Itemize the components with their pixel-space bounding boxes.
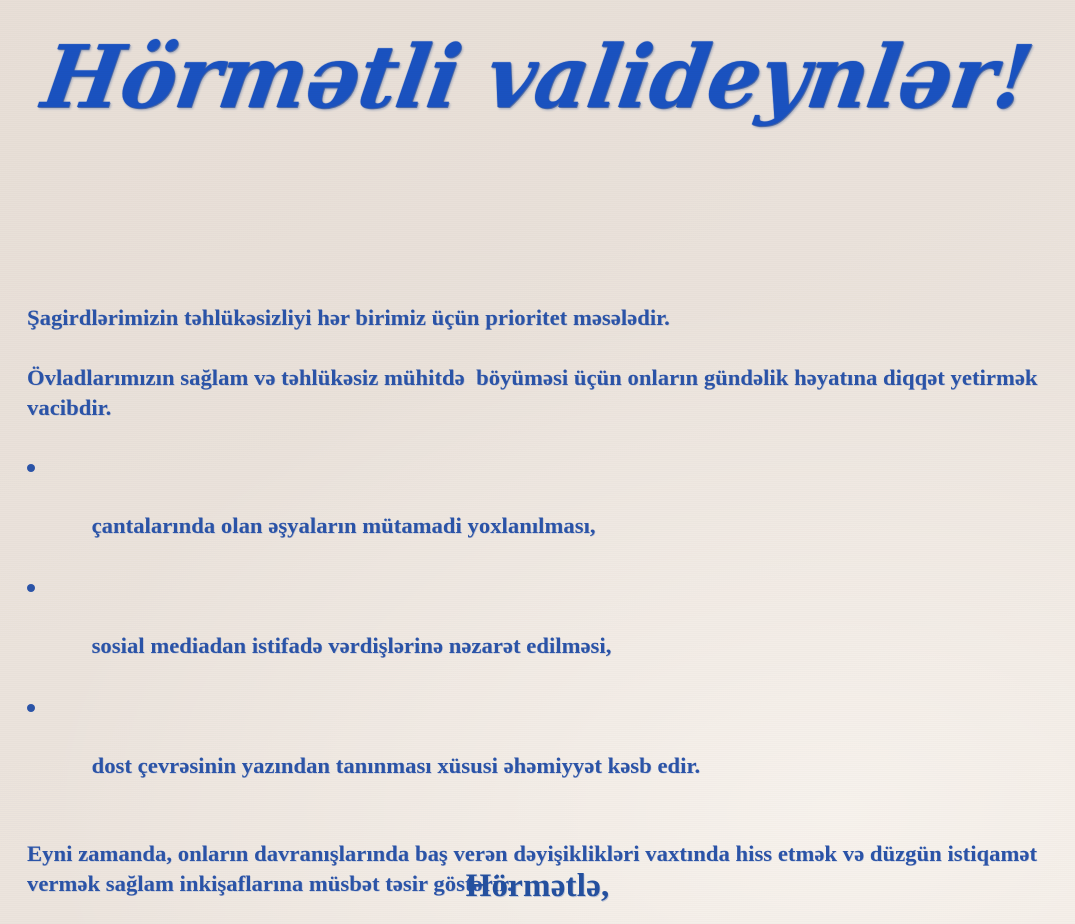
bullet-dot-icon	[27, 584, 35, 592]
signature-text: Hörmətlə,	[0, 866, 1075, 906]
list-item: dost çevrəsinin yazından tanınması xüsus…	[27, 691, 1055, 811]
list-item-label: dost çevrəsinin yazından tanınması xüsus…	[92, 753, 701, 778]
spacer	[27, 811, 1055, 839]
safety-measures-list: çantalarında olan əşyaların mütamadi yox…	[27, 451, 1055, 811]
page-title: Hörmətli valideynlər!	[37, 32, 1038, 123]
list-item: çantalarında olan əşyaların mütamadi yox…	[27, 451, 1055, 571]
announcement-poster: Hörmətli valideynlər! Şagirdlərimizin tə…	[0, 0, 1075, 924]
body-text-block: Şagirdlərimizin təhlükəsizliyi hər birim…	[27, 303, 1055, 924]
title-container: Hörmətli valideynlər!	[0, 34, 1075, 121]
list-item-label: sosial mediadan istifadə vərdişlərinə nə…	[92, 633, 612, 658]
spacer	[27, 333, 1055, 363]
spacer	[27, 423, 1055, 451]
paragraph-2: Övladlarımızın sağlam və təhlükəsiz mühi…	[27, 363, 1055, 423]
list-item: sosial mediadan istifadə vərdişlərinə nə…	[27, 571, 1055, 691]
bullet-dot-icon	[27, 464, 35, 472]
list-item-label: çantalarında olan əşyaların mütamadi yox…	[92, 513, 596, 538]
intro-paragraph: Şagirdlərimizin təhlükəsizliyi hər birim…	[27, 303, 1055, 333]
bullet-dot-icon	[27, 704, 35, 712]
